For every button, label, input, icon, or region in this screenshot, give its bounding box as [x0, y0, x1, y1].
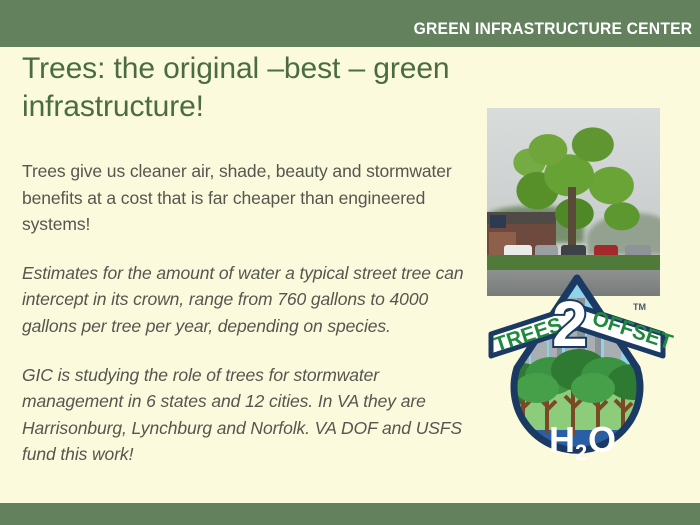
presentation-slide: GREEN INFRASTRUCTURE CENTER Trees: the o…: [0, 0, 700, 525]
body-text-column: Trees give us cleaner air, shade, beauty…: [22, 158, 477, 468]
logo-number-two: 2: [552, 288, 588, 360]
logo-svg: H 2 O TREES OFFSET 2 TM: [487, 272, 667, 484]
paragraph-gic-study: GIC is studying the role of trees for st…: [22, 362, 477, 468]
organization-title: GREEN INFRASTRUCTURE CENTER: [413, 21, 692, 38]
photo-tree-trunk: [568, 187, 576, 253]
logo-h2o-h: H: [549, 419, 575, 460]
paragraph-estimates: Estimates for the amount of water a typi…: [22, 260, 477, 340]
trees2offset-logo: H 2 O TREES OFFSET 2 TM: [487, 272, 667, 484]
street-tree-photo: [487, 108, 660, 296]
logo-trademark-icon: TM: [633, 302, 646, 312]
photo-storefront-sign: [490, 215, 506, 228]
logo-h2o-sub: 2: [575, 440, 587, 465]
photo-hedge-row: [487, 255, 660, 270]
header-bar: GREEN INFRASTRUCTURE CENTER: [0, 0, 700, 47]
paragraph-benefits: Trees give us cleaner air, shade, beauty…: [22, 158, 477, 238]
logo-h2o-o: O: [588, 419, 616, 460]
photo-tree-canopy: [511, 119, 642, 247]
footer-bar: [0, 503, 700, 525]
slide-title: Trees: the original –best – green infras…: [22, 50, 492, 126]
